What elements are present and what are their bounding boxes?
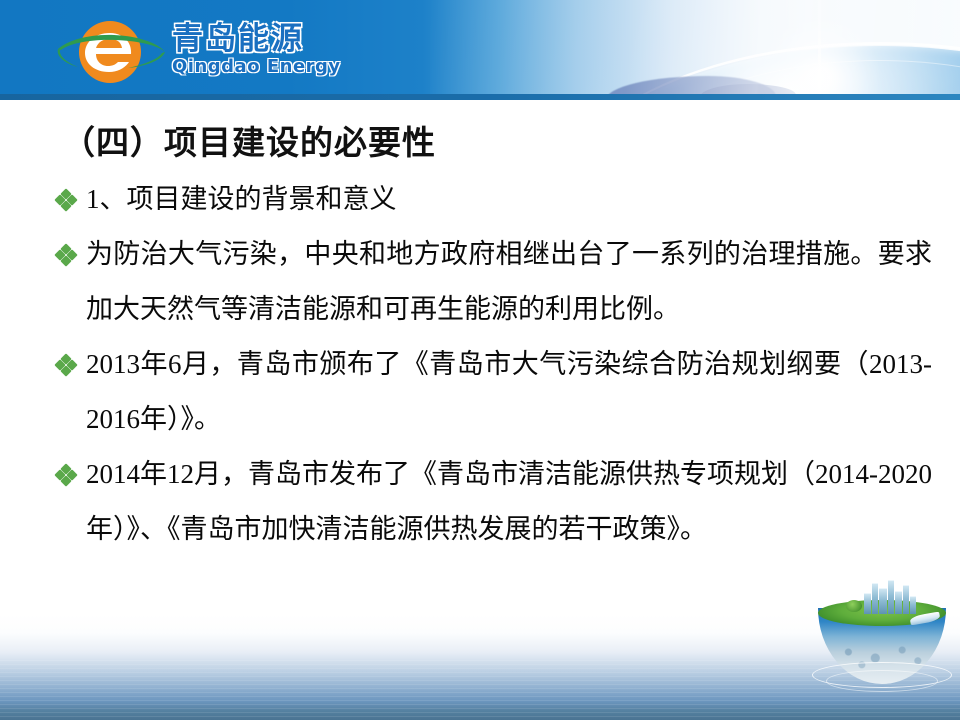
globe-orbit-ring-secondary-icon <box>826 670 938 692</box>
body-text-block: 1、项目建设的背景和意义 为防治大气污染，中央和地方政府相继出台了一系列的治理措… <box>52 172 932 557</box>
logo-wordmark: 青岛能源 Qingdao Energy <box>172 22 382 84</box>
paragraph-text: 为防治大气污染，中央和地方政府相继出台了一系列的治理措施。要求加大天然气等清洁能… <box>86 239 932 324</box>
paragraph-text: 1、项目建设的背景和意义 <box>86 184 397 214</box>
slide-content: （四）项目建设的必要性 1、项目建设的背景和意义 为防治大气污染，中央和地方政府… <box>0 100 960 660</box>
paragraph-text: 2014年12月，青岛市发布了《青岛市清洁能源供热专项规划（2014-2020年… <box>86 459 932 544</box>
logo-company-name-en: Qingdao Energy <box>172 56 382 78</box>
company-logo: 青岛能源 Qingdao Energy <box>52 16 382 88</box>
header-haze-overlay <box>430 0 960 100</box>
slide-canvas: 青岛能源 Qingdao Energy （四）项目建设的必要性 1、项目建设的背… <box>0 0 960 720</box>
paragraph-text: 2013年6月，青岛市颁布了《青岛市大气污染综合防治规划纲要（2013-2016… <box>86 349 932 434</box>
diamond-cluster-bullet-icon <box>56 190 76 210</box>
page-title: （四）项目建设的必要性 <box>62 116 436 164</box>
bullet-paragraph-1: 1、项目建设的背景和意义 <box>52 172 932 227</box>
diamond-cluster-bullet-icon <box>56 245 76 265</box>
logo-company-name-cn: 青岛能源 <box>172 22 382 56</box>
bullet-paragraph-2: 为防治大气污染，中央和地方政府相继出台了一系列的治理措施。要求加大天然气等清洁能… <box>52 227 932 337</box>
eco-city-globe-image <box>812 578 952 698</box>
city-skyline-icon <box>864 580 916 614</box>
diamond-cluster-bullet-icon <box>56 355 76 375</box>
tree-icon <box>846 600 862 612</box>
orange-e-globe-logo-icon <box>52 16 174 88</box>
bullet-paragraph-3: 2013年6月，青岛市颁布了《青岛市大气污染综合防治规划纲要（2013-2016… <box>52 337 932 447</box>
bullet-paragraph-4: 2014年12月，青岛市发布了《青岛市清洁能源供热专项规划（2014-2020年… <box>52 447 932 557</box>
diamond-cluster-bullet-icon <box>56 465 76 485</box>
